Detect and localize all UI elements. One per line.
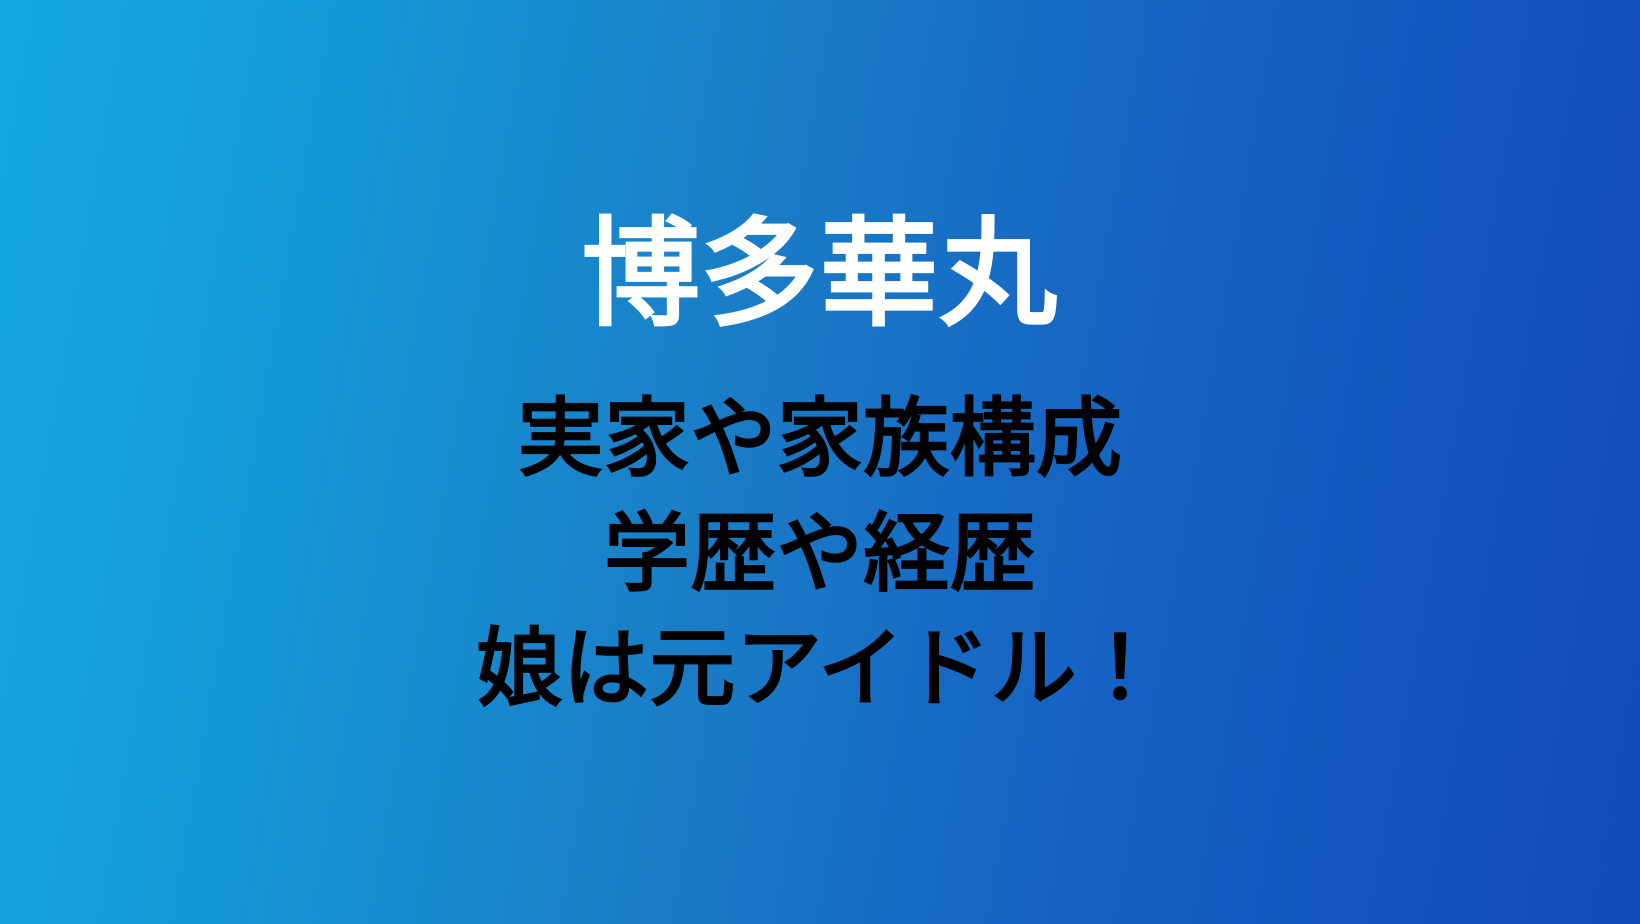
thumbnail-canvas: 博多華丸 実家や家族構成 学歴や経歴 娘は元アイドル！: [0, 0, 1640, 924]
subtitle-block: 実家や家族構成 学歴や経歴 娘は元アイドル！: [0, 382, 1640, 728]
content-stack: 博多華丸 実家や家族構成 学歴や経歴 娘は元アイドル！: [0, 0, 1640, 924]
subtitle-line-3: 娘は元アイドル！: [0, 612, 1640, 727]
subtitle-line-1: 実家や家族構成: [0, 382, 1640, 497]
page-title: 博多華丸: [0, 207, 1640, 343]
subtitle-line-2: 学歴や経歴: [0, 497, 1640, 612]
